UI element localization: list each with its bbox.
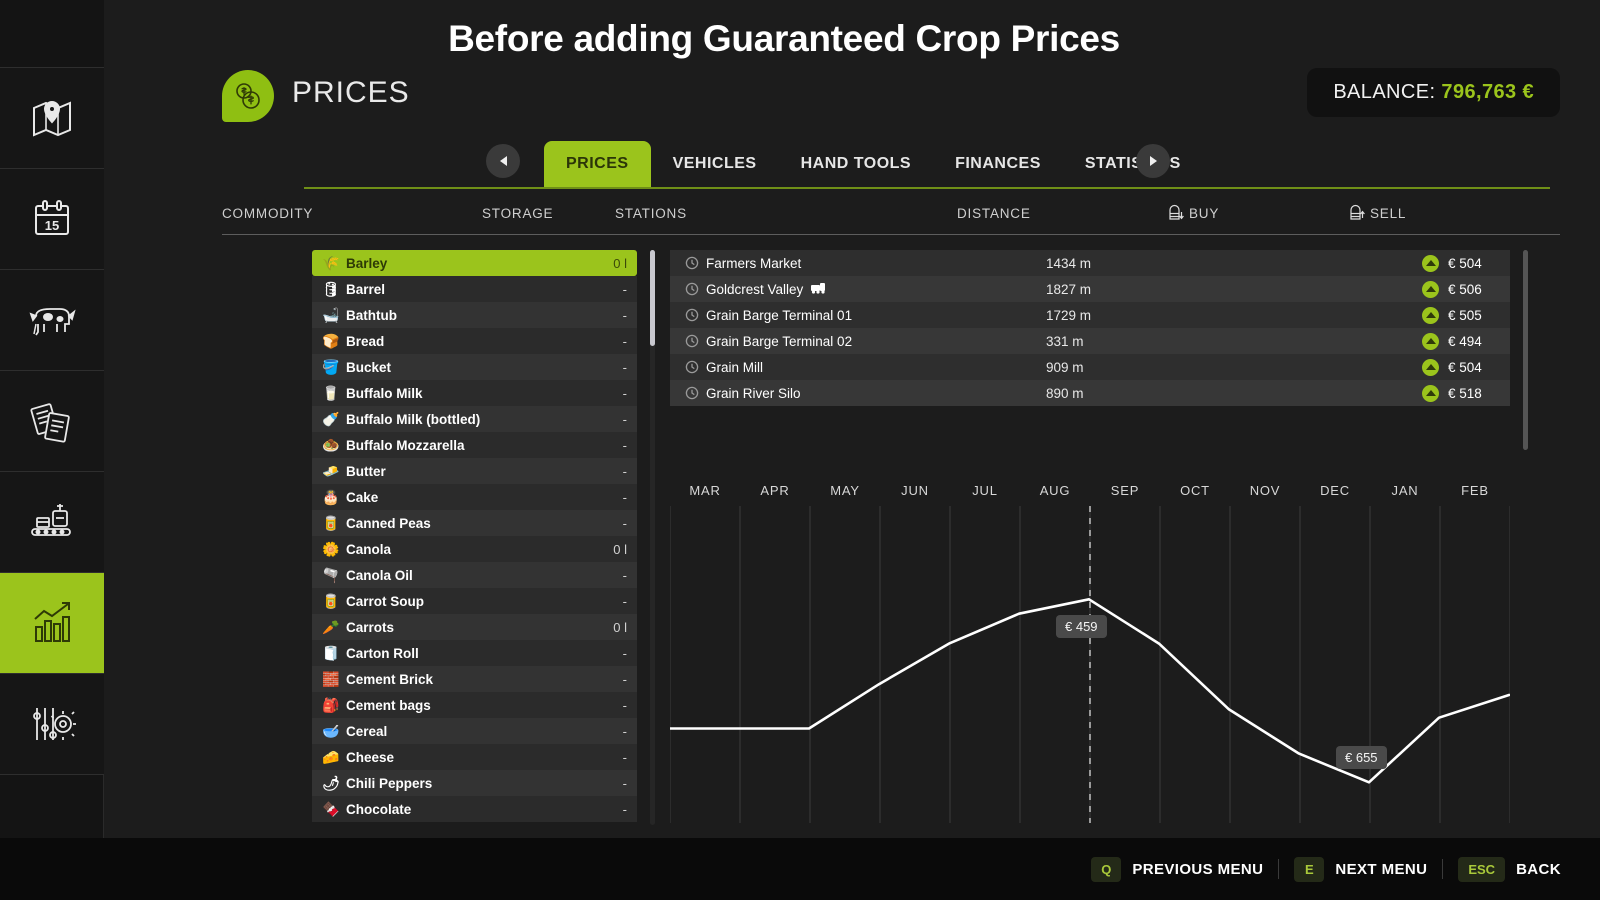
commodity-storage: 0 l — [613, 620, 627, 635]
commodity-storage: - — [623, 646, 627, 661]
documents-icon — [25, 395, 79, 447]
commodity-row[interactable]: 🧻Carton Roll- — [312, 640, 637, 666]
game-screen: 15 — [0, 0, 1600, 900]
station-name-text: Grain Barge Terminal 01 — [706, 308, 852, 323]
main-panel: Before adding Guaranteed Crop Prices PRI… — [104, 0, 1600, 838]
commodity-storage: - — [623, 568, 627, 583]
station-name: Grain Mill — [706, 360, 1046, 375]
section-title: PRICES — [292, 76, 410, 110]
commodity-row[interactable]: 🥕Carrots0 l — [312, 614, 637, 640]
page-title: Before adding Guaranteed Crop Prices — [104, 18, 1464, 60]
chart-month-label: OCT — [1180, 483, 1210, 498]
commodity-icon: 🥫 — [316, 515, 346, 532]
commodity-icon: 🎒 — [316, 697, 346, 714]
sidebar-item-settings[interactable] — [0, 674, 104, 775]
station-name-text: Grain River Silo — [706, 386, 801, 401]
station-row[interactable]: Grain River Silo890 m€ 518 — [670, 380, 1510, 406]
sidebar-item-map[interactable] — [0, 68, 104, 169]
commodity-name: Cheese — [346, 750, 623, 765]
commodity-row[interactable]: 🎒Cement bags- — [312, 692, 637, 718]
commodity-scroll-thumb[interactable] — [650, 250, 655, 346]
commodity-icon: 🥣 — [316, 723, 346, 740]
commodity-name: Bread — [346, 334, 623, 349]
calendar-15-icon: 15 — [26, 193, 78, 245]
chart-month-label: AUG — [1040, 483, 1071, 498]
chevron-right-icon — [1150, 156, 1157, 166]
commodity-row[interactable]: 🌼Canola0 l — [312, 536, 637, 562]
tab-statistics[interactable]: STATISTICS — [1063, 141, 1203, 187]
map-pin-icon — [26, 92, 78, 144]
commodity-storage: - — [623, 516, 627, 531]
commodity-name: Chocolate — [346, 802, 623, 817]
commodity-storage: - — [623, 308, 627, 323]
commodity-name: Cement bags — [346, 698, 623, 713]
station-name-text: Farmers Market — [706, 256, 801, 271]
commodity-storage: - — [623, 802, 627, 817]
station-name-text: Goldcrest Valley — [706, 282, 803, 297]
key-q: Q — [1091, 857, 1121, 882]
commodity-row[interactable]: 🥣Cereal- — [312, 718, 637, 744]
commodity-name: Buffalo Milk — [346, 386, 623, 401]
trend-up-icon — [1422, 281, 1439, 298]
station-distance: 909 m — [1046, 360, 1366, 375]
trend-up-icon — [1422, 255, 1439, 272]
clock-icon — [678, 334, 706, 348]
chart-min-label: € 459 — [1056, 615, 1107, 638]
sliders-gear-icon — [24, 698, 80, 750]
column-headers: COMMODITY STORAGE STATIONS DISTANCE BUY … — [222, 206, 1560, 230]
station-price: € 494 — [1448, 334, 1504, 349]
hint-previous-menu[interactable]: Q PREVIOUS MENU — [1076, 857, 1278, 882]
commodity-row[interactable]: 🍼Buffalo Milk (bottled)- — [312, 406, 637, 432]
commodity-icon: 🌼 — [316, 541, 346, 558]
commodity-storage: 0 l — [613, 256, 627, 271]
station-price: € 504 — [1448, 256, 1504, 271]
station-price-group: € 504 — [1422, 255, 1504, 272]
commodity-icon: 🧱 — [316, 671, 346, 688]
commodity-row[interactable]: 🛢Barrel- — [312, 276, 637, 302]
commodity-name: Barley — [346, 256, 613, 271]
station-price-group: € 494 — [1422, 333, 1504, 350]
commodity-name: Canned Peas — [346, 516, 623, 531]
commodity-storage: - — [623, 776, 627, 791]
panel-header: PRICES BALANCE: 796,763 € — [222, 70, 1560, 124]
chart-month-label: JAN — [1392, 483, 1419, 498]
left-sidebar: 15 — [0, 0, 104, 838]
tab-finances[interactable]: FINANCES — [933, 141, 1063, 187]
commodity-name: Buffalo Milk (bottled) — [346, 412, 623, 427]
commodity-icon: 🍼 — [316, 411, 346, 428]
col-commodity: COMMODITY — [222, 206, 313, 221]
commodity-icon: 🧀 — [316, 749, 346, 766]
station-price-group: € 506 — [1422, 281, 1504, 298]
commodity-name: Bathtub — [346, 308, 623, 323]
chart-month-label: MAY — [830, 483, 860, 498]
commodity-name: Canola — [346, 542, 613, 557]
commodity-name: Chili Peppers — [346, 776, 623, 791]
sidebar-top-spacer — [0, 0, 104, 68]
balance-label: BALANCE: — [1333, 81, 1435, 103]
header-divider — [222, 234, 1560, 235]
commodity-row[interactable]: 🧀Cheese- — [312, 744, 637, 770]
station-row[interactable]: Grain Barge Terminal 011729 m€ 505 — [670, 302, 1510, 328]
station-price: € 506 — [1448, 282, 1504, 297]
hint-label-back: BACK — [1516, 861, 1561, 878]
tab-underline — [304, 187, 1550, 189]
station-row[interactable]: Grain Mill909 m€ 504 — [670, 354, 1510, 380]
commodity-name: Canola Oil — [346, 568, 623, 583]
commodity-name: Carrot Soup — [346, 594, 623, 609]
commodity-row[interactable]: 🪣Bucket- — [312, 354, 637, 380]
station-name-text: Grain Barge Terminal 02 — [706, 334, 852, 349]
commodity-row[interactable]: 🧱Cement Brick- — [312, 666, 637, 692]
sidebar-item-production[interactable] — [0, 472, 104, 573]
commodity-name: Carton Roll — [346, 646, 623, 661]
sidebar-item-calendar[interactable]: 15 — [0, 169, 104, 270]
chart-max-label: € 655 — [1336, 746, 1387, 769]
commodity-icon: 🪣 — [316, 359, 346, 376]
balance-amount: 796,763 € — [1441, 81, 1534, 103]
station-name-text: Grain Mill — [706, 360, 763, 375]
chart-month-label: JUL — [972, 483, 998, 498]
commodity-row[interactable]: 🧈Butter- — [312, 458, 637, 484]
hint-back[interactable]: ESC BACK — [1443, 857, 1576, 882]
commodity-name: Cement Brick — [346, 672, 623, 687]
tab-hand-tools[interactable]: HAND TOOLS — [779, 141, 933, 187]
commodity-icon: 🌾 — [316, 255, 346, 272]
silo-down-icon — [1167, 203, 1184, 225]
commodity-icon: 🫗 — [316, 567, 346, 584]
commodity-storage: - — [623, 464, 627, 479]
commodity-row[interactable]: 🌶Chili Peppers- — [312, 770, 637, 796]
tab-prices[interactable]: PRICES — [544, 141, 651, 187]
station-price: € 504 — [1448, 360, 1504, 375]
silo-up-icon — [1348, 203, 1365, 225]
commodity-icon: 🍞 — [316, 333, 346, 350]
stations-scrollbar[interactable] — [1523, 250, 1528, 450]
station-price: € 518 — [1448, 386, 1504, 401]
commodity-storage: - — [623, 490, 627, 505]
commodity-storage: - — [623, 698, 627, 713]
chart-month-label: DEC — [1320, 483, 1350, 498]
station-distance: 1434 m — [1046, 256, 1366, 271]
commodity-storage: - — [623, 412, 627, 427]
commodity-row[interactable]: 🫗Canola Oil- — [312, 562, 637, 588]
tab-prev-button[interactable] — [486, 144, 520, 178]
commodity-icon: 🎂 — [316, 489, 346, 506]
clock-icon — [678, 360, 706, 374]
clock-icon — [678, 308, 706, 322]
commodity-row[interactable]: 🍞Bread- — [312, 328, 637, 354]
cow-icon — [24, 294, 80, 346]
clock-icon — [678, 386, 706, 400]
trend-up-icon — [1422, 385, 1439, 402]
commodity-icon: 🧆 — [316, 437, 346, 454]
sidebar-item-animals[interactable] — [0, 270, 104, 371]
chart-month-label: JUN — [901, 483, 929, 498]
station-price: € 505 — [1448, 308, 1504, 323]
chart-month-label: NOV — [1250, 483, 1281, 498]
commodity-row[interactable]: 🌾Barley0 l — [312, 250, 637, 276]
commodity-storage: - — [623, 594, 627, 609]
commodity-row[interactable]: 🎂Cake- — [312, 484, 637, 510]
chart-month-label: APR — [760, 483, 789, 498]
station-name: Grain Barge Terminal 02 — [706, 334, 1046, 349]
chevron-left-icon — [500, 156, 507, 166]
key-e: E — [1294, 857, 1324, 882]
chart-canvas — [670, 506, 1510, 823]
commodity-row[interactable]: 🧆Buffalo Mozzarella- — [312, 432, 637, 458]
commodity-icon: 🍫 — [316, 801, 346, 818]
commodity-row[interactable]: 🥫Carrot Soup- — [312, 588, 637, 614]
station-name: Farmers Market — [706, 256, 1046, 271]
price-chart: MARAPRMAYJUNJULAUGSEPOCTNOVDECJANFEB € 6… — [670, 478, 1510, 823]
tab-list: PRICES VEHICLES HAND TOOLS FINANCES STAT… — [544, 141, 1203, 187]
col-distance: DISTANCE — [957, 206, 1031, 221]
stations-scroll-thumb[interactable] — [1523, 250, 1528, 450]
commodity-storage: - — [623, 386, 627, 401]
commodity-icon: 🛁 — [316, 307, 346, 324]
conveyor-factory-icon — [24, 496, 80, 548]
chart-month-labels: MARAPRMAYJUNJULAUGSEPOCTNOVDECJANFEB — [670, 478, 1510, 508]
clock-icon — [678, 282, 706, 296]
commodity-name: Carrots — [346, 620, 613, 635]
commodity-name: Buffalo Mozzarella — [346, 438, 623, 453]
station-distance: 1827 m — [1046, 282, 1366, 297]
station-row[interactable]: Farmers Market1434 m€ 504 — [670, 250, 1510, 276]
commodity-storage: - — [623, 672, 627, 687]
station-name: Goldcrest Valley — [706, 281, 1046, 297]
station-distance: 331 m — [1046, 334, 1366, 349]
commodity-row[interactable]: 🍫Chocolate- — [312, 796, 637, 822]
station-name: Grain River Silo — [706, 386, 1046, 401]
commodity-icon: 🥛 — [316, 385, 346, 402]
commodity-name: Bucket — [346, 360, 623, 375]
commodity-icon: 🧈 — [316, 463, 346, 480]
col-stations: STATIONS — [615, 206, 687, 221]
commodity-storage: - — [623, 360, 627, 375]
station-price-group: € 505 — [1422, 307, 1504, 324]
bottom-hint-bar: Q PREVIOUS MENU E NEXT MENU ESC BACK — [0, 838, 1600, 900]
key-esc: ESC — [1458, 857, 1505, 882]
commodity-icon: 🧻 — [316, 645, 346, 662]
trend-up-icon — [1422, 307, 1439, 324]
hint-label-next-menu: NEXT MENU — [1335, 861, 1427, 878]
commodity-storage: 0 l — [613, 542, 627, 557]
commodity-name: Cake — [346, 490, 623, 505]
tab-bar: PRICES VEHICLES HAND TOOLS FINANCES STAT… — [222, 141, 1560, 188]
chart-month-label: MAR — [689, 483, 720, 498]
stations-table[interactable]: Farmers Market1434 m€ 504Goldcrest Valle… — [670, 250, 1510, 406]
commodity-row[interactable]: 🛁Bathtub- — [312, 302, 637, 328]
trend-up-icon — [1422, 333, 1439, 350]
money-coins-icon — [222, 70, 274, 122]
station-price-group: € 504 — [1422, 359, 1504, 376]
balance-display: BALANCE: 796,763 € — [1307, 68, 1560, 117]
commodity-storage: - — [623, 724, 627, 739]
commodity-storage: - — [623, 750, 627, 765]
commodity-icon: 🥕 — [316, 619, 346, 636]
sidebar-item-statistics[interactable] — [0, 573, 104, 674]
commodity-name: Butter — [346, 464, 623, 479]
station-name: Grain Barge Terminal 01 — [706, 308, 1046, 323]
chart-month-label: SEP — [1111, 483, 1139, 498]
sidebar-item-contracts[interactable] — [0, 371, 104, 472]
station-row[interactable]: Grain Barge Terminal 02331 m€ 494 — [670, 328, 1510, 354]
station-distance: 890 m — [1046, 386, 1366, 401]
chart-month-label: FEB — [1461, 483, 1489, 498]
station-price-group: € 518 — [1422, 385, 1504, 402]
hint-label-previous-menu: PREVIOUS MENU — [1132, 861, 1263, 878]
train-icon — [810, 281, 826, 297]
station-row[interactable]: Goldcrest Valley1827 m€ 506 — [670, 276, 1510, 302]
commodity-row[interactable]: 🥫Canned Peas- — [312, 510, 637, 536]
clock-icon — [678, 256, 706, 270]
commodity-scrollbar[interactable] — [650, 250, 655, 825]
commodity-storage: - — [623, 282, 627, 297]
commodity-icon: 🌶 — [316, 775, 346, 792]
commodity-icon: 🥫 — [316, 593, 346, 610]
col-storage: STORAGE — [482, 206, 553, 221]
tab-vehicles[interactable]: VEHICLES — [651, 141, 779, 187]
commodity-storage: - — [623, 334, 627, 349]
tab-next-button[interactable] — [1136, 144, 1170, 178]
commodity-name: Cereal — [346, 724, 623, 739]
commodity-name: Barrel — [346, 282, 623, 297]
bar-chart-trend-icon — [24, 597, 80, 649]
trend-up-icon — [1422, 359, 1439, 376]
commodity-storage: - — [623, 438, 627, 453]
station-distance: 1729 m — [1046, 308, 1366, 323]
commodity-row[interactable]: 🥛Buffalo Milk- — [312, 380, 637, 406]
commodity-list[interactable]: 🌾Barley0 l🛢Barrel-🛁Bathtub-🍞Bread-🪣Bucke… — [312, 250, 637, 825]
hint-next-menu[interactable]: E NEXT MENU — [1279, 857, 1442, 882]
svg-text:15: 15 — [45, 218, 59, 233]
commodity-icon: 🛢 — [316, 281, 346, 298]
